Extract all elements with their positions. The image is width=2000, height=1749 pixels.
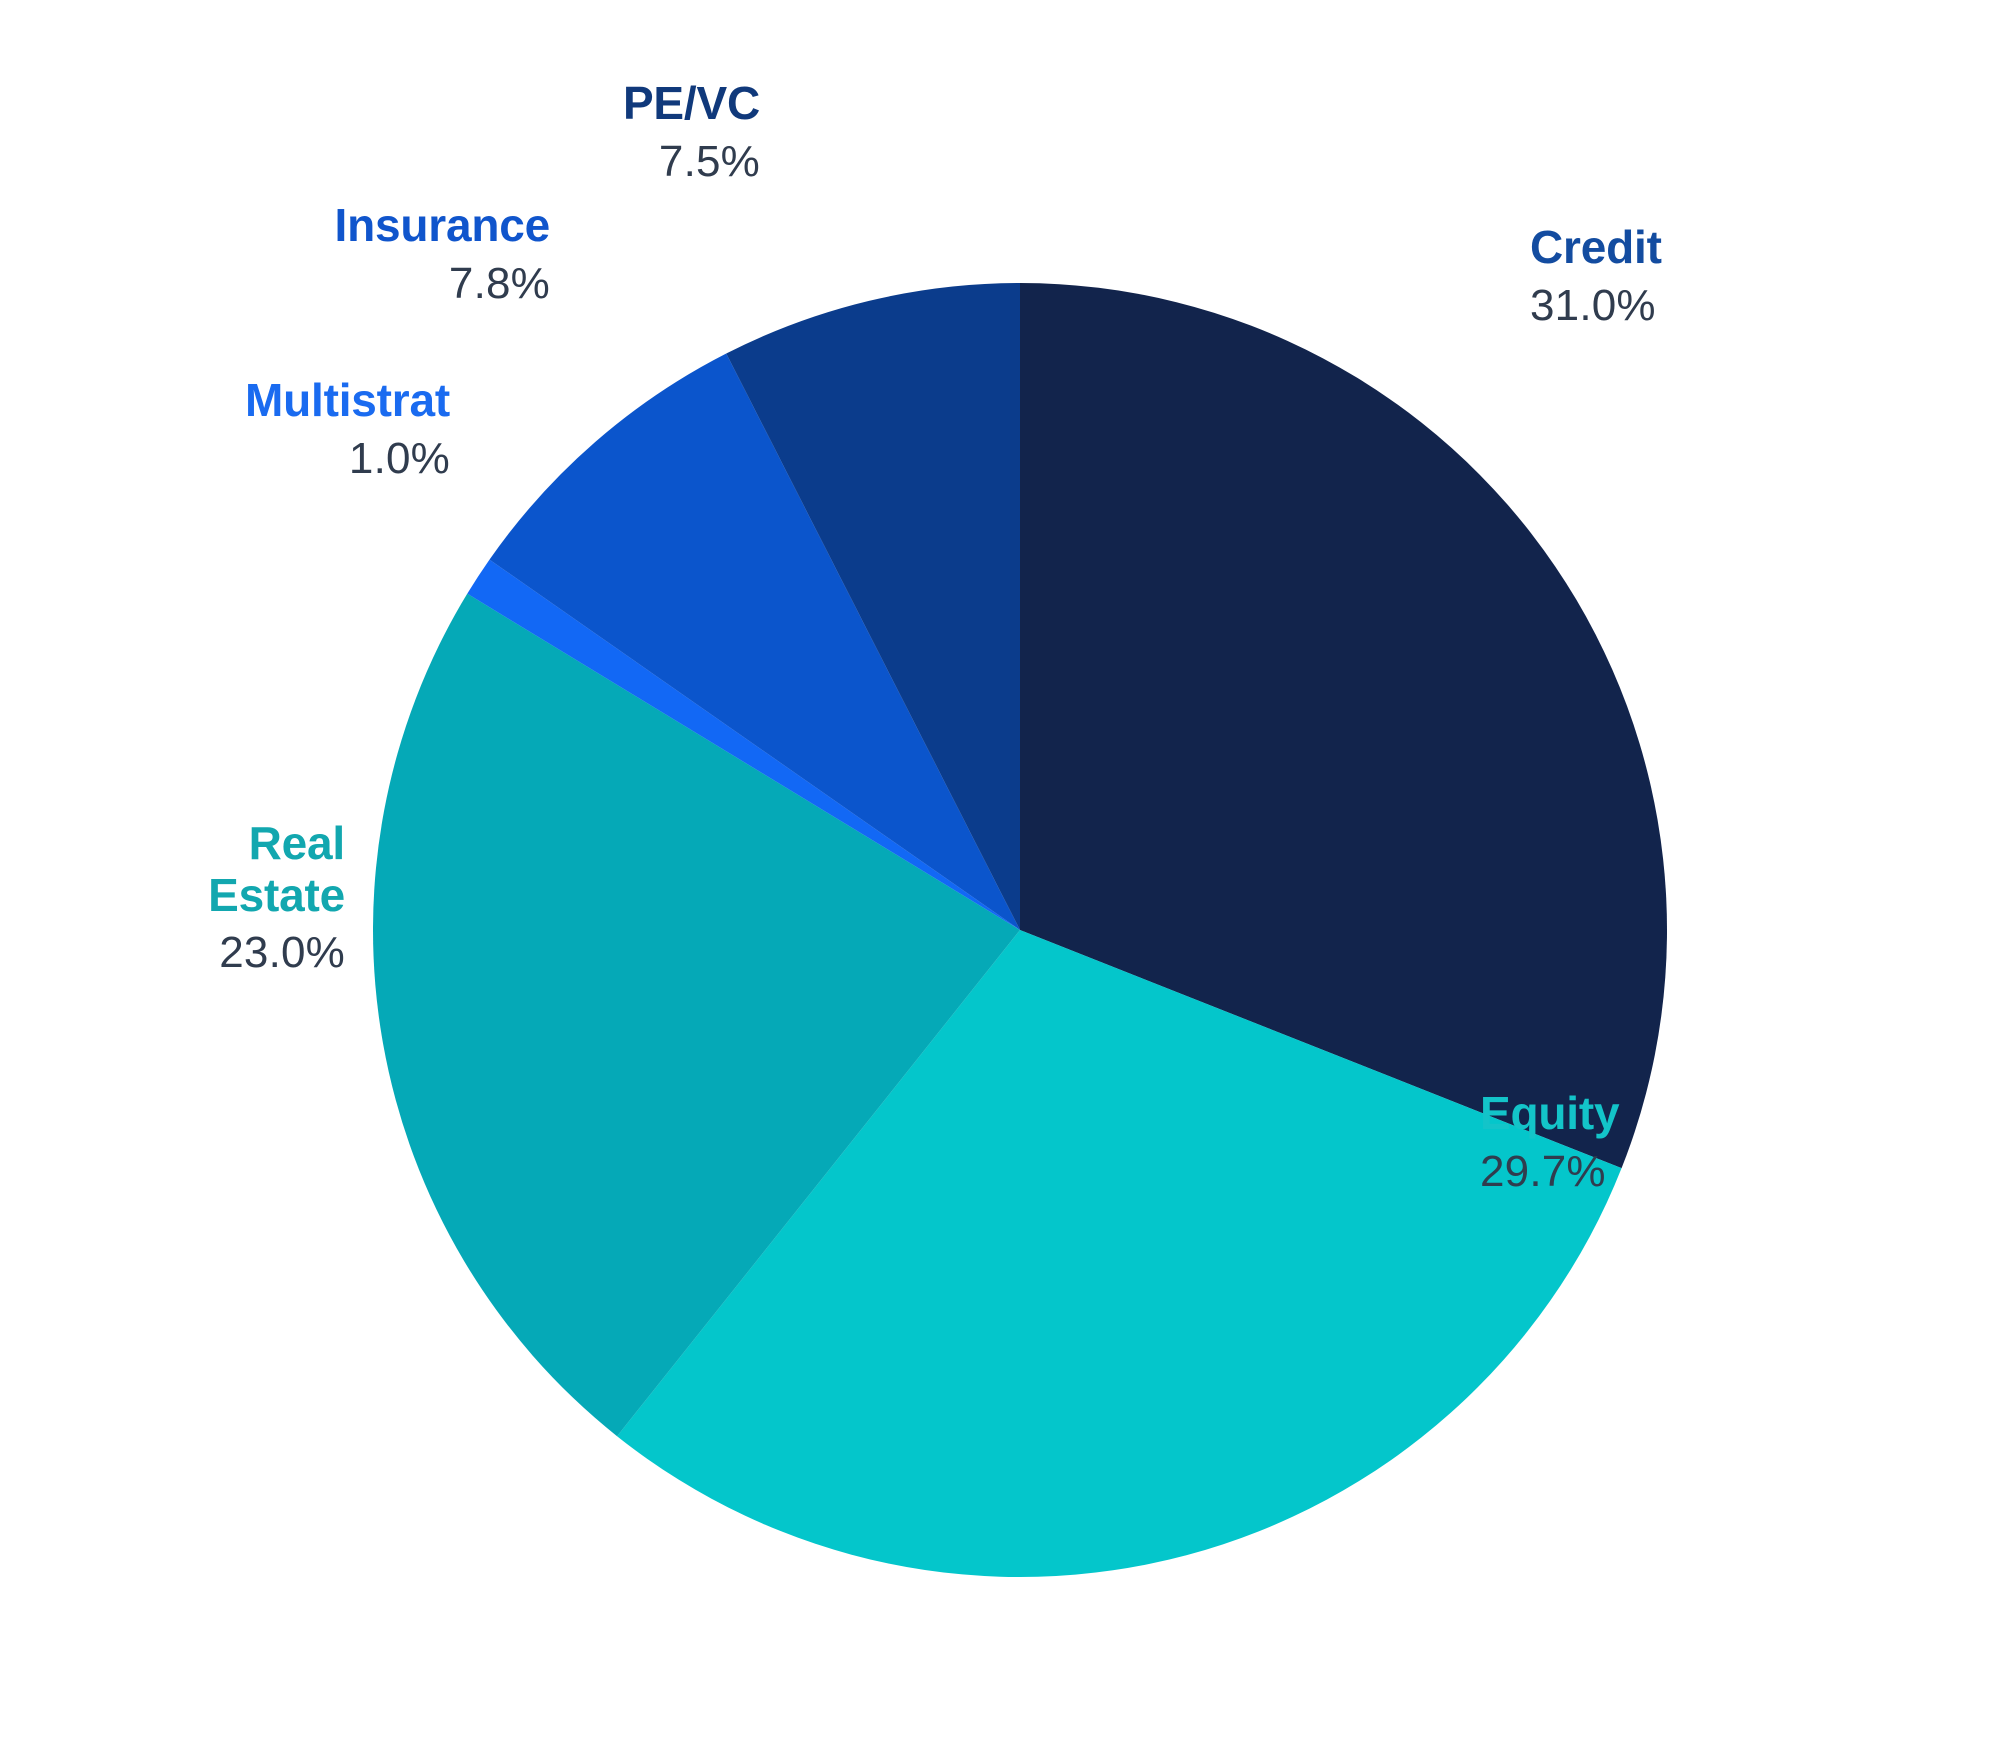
pie-label-name-credit: Credit bbox=[1530, 222, 1950, 274]
pie-label-value-real-estate: 23.0% bbox=[30, 928, 345, 977]
pie-chart-figure: PE/VC 7.5% Insurance 7.8% Multistrat 1.0… bbox=[0, 0, 2000, 1749]
pie-label-insurance: Insurance 7.8% bbox=[130, 200, 550, 308]
pie-label-value-insurance: 7.8% bbox=[130, 259, 550, 308]
pie-label-name-insurance: Insurance bbox=[130, 200, 550, 252]
pie-slice-group bbox=[373, 283, 1667, 1577]
pie-label-credit: Credit 31.0% bbox=[1530, 222, 1950, 330]
pie-label-value-credit: 31.0% bbox=[1530, 281, 1950, 330]
pie-label-pe-vc: PE/VC 7.5% bbox=[340, 78, 760, 186]
pie-label-value-equity: 29.7% bbox=[1480, 1147, 1900, 1196]
pie-label-value-multistrat: 1.0% bbox=[30, 434, 450, 483]
pie-label-name-real-estate: Real Estate bbox=[30, 818, 345, 921]
pie-label-name-equity: Equity bbox=[1480, 1088, 1900, 1140]
pie-label-multistrat: Multistrat 1.0% bbox=[30, 375, 450, 483]
pie-label-name-multistrat: Multistrat bbox=[30, 375, 450, 427]
pie-label-real-estate: Real Estate 23.0% bbox=[30, 818, 345, 977]
pie-label-value-pe-vc: 7.5% bbox=[340, 137, 760, 186]
pie-label-name-pe-vc: PE/VC bbox=[340, 78, 760, 130]
pie-label-equity: Equity 29.7% bbox=[1480, 1088, 1900, 1196]
